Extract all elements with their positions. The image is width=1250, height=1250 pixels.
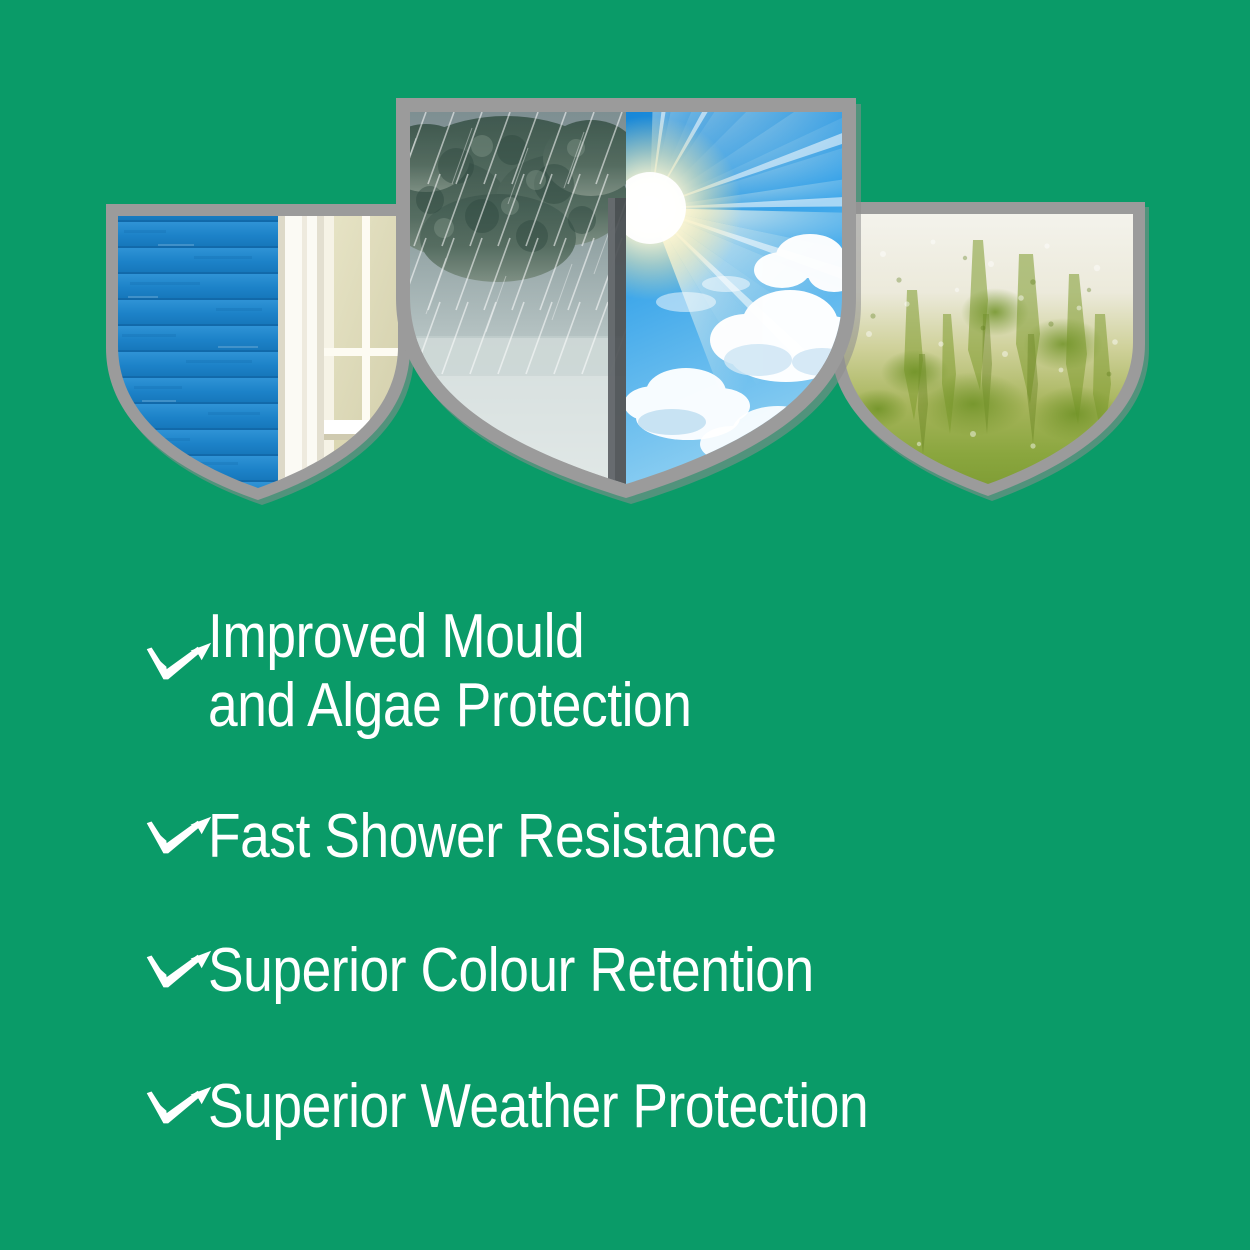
- list-item-label: Superior Weather Protection: [208, 1072, 868, 1141]
- benefits-list: Improved Mould and Algae Protection Fast…: [0, 590, 1250, 1160]
- check-cell: [0, 1054, 212, 1160]
- check-cell: [0, 610, 212, 716]
- blue-brick-wall-shield: [98, 196, 418, 506]
- list-item-label: Improved Mould and Algae Protection: [208, 602, 691, 741]
- list-item: Superior Weather Protection: [0, 1054, 1250, 1160]
- check-cell: [0, 918, 212, 1024]
- shield-artwork: [843, 214, 1133, 494]
- algae-wall-shield: [823, 194, 1153, 504]
- list-item: Improved Mould and Algae Protection: [0, 596, 1250, 746]
- check-cell: [0, 784, 212, 890]
- rain-and-sun-shield: [386, 88, 866, 508]
- list-item-label: Superior Colour Retention: [208, 936, 814, 1005]
- check-arrow-icon: [146, 1054, 212, 1160]
- check-arrow-icon: [146, 784, 212, 890]
- list-item: Fast Shower Resistance: [0, 784, 1250, 890]
- check-arrow-icon: [146, 918, 212, 1024]
- product-benefits-graphic: Improved Mould and Algae Protection Fast…: [0, 0, 1250, 1250]
- shield-artwork: [118, 216, 418, 496]
- shield-group: [0, 0, 1250, 560]
- list-item-label: Fast Shower Resistance: [208, 802, 776, 871]
- list-item: Superior Colour Retention: [0, 918, 1250, 1024]
- check-arrow-icon: [146, 610, 212, 716]
- rain-scene: [382, 112, 639, 492]
